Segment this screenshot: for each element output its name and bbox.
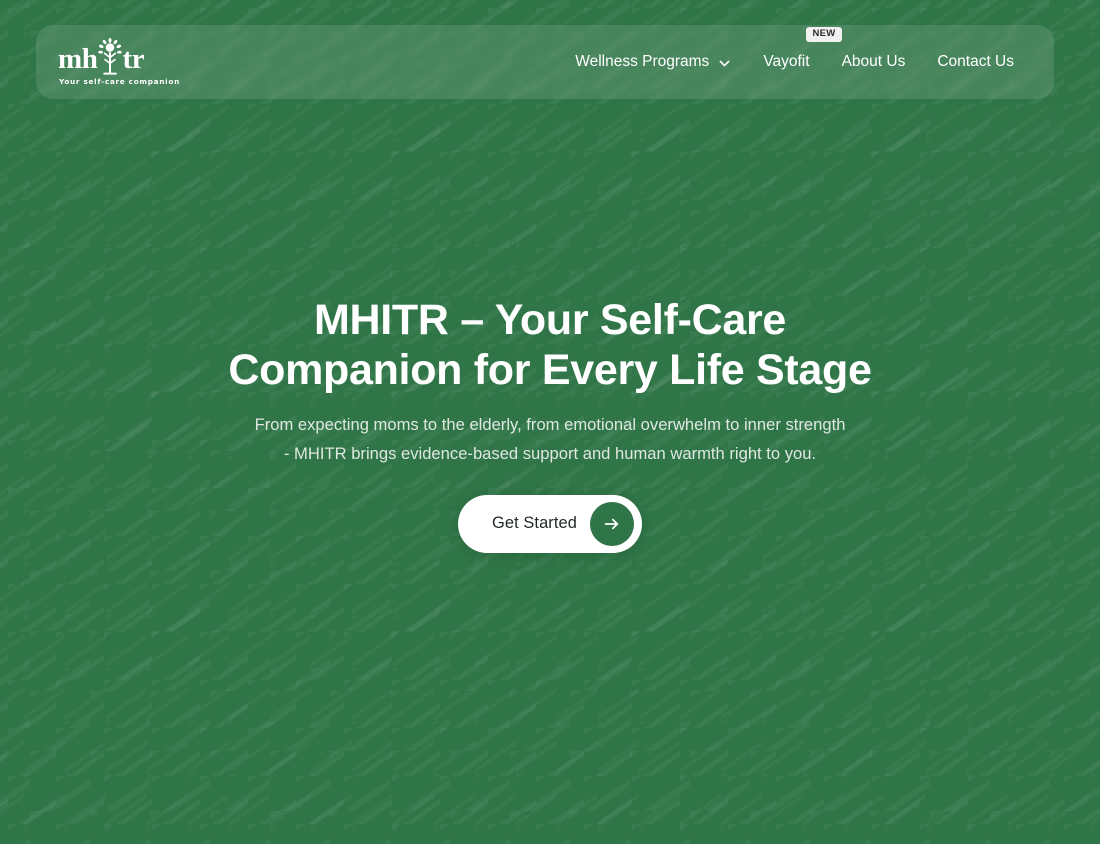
get-started-label: Get Started bbox=[492, 514, 577, 533]
hero-section: MHITR – Your Self-Care Companion for Eve… bbox=[0, 0, 1100, 844]
hero-subtitle: From expecting moms to the elderly, from… bbox=[255, 410, 846, 469]
hero-subtitle-line-1: From expecting moms to the elderly, from… bbox=[255, 415, 846, 434]
page-root: mh bbox=[0, 0, 1100, 844]
get-started-button[interactable]: Get Started bbox=[458, 495, 642, 553]
hero-title-line-1: MHITR – Your Self-Care bbox=[314, 296, 786, 344]
hero-subtitle-line-2: - MHITR brings evidence-based support an… bbox=[284, 444, 816, 463]
arrow-right-icon bbox=[590, 502, 634, 546]
hero-title-line-2: Companion for Every Life Stage bbox=[228, 346, 871, 394]
page-title: MHITR – Your Self-Care Companion for Eve… bbox=[228, 296, 871, 396]
